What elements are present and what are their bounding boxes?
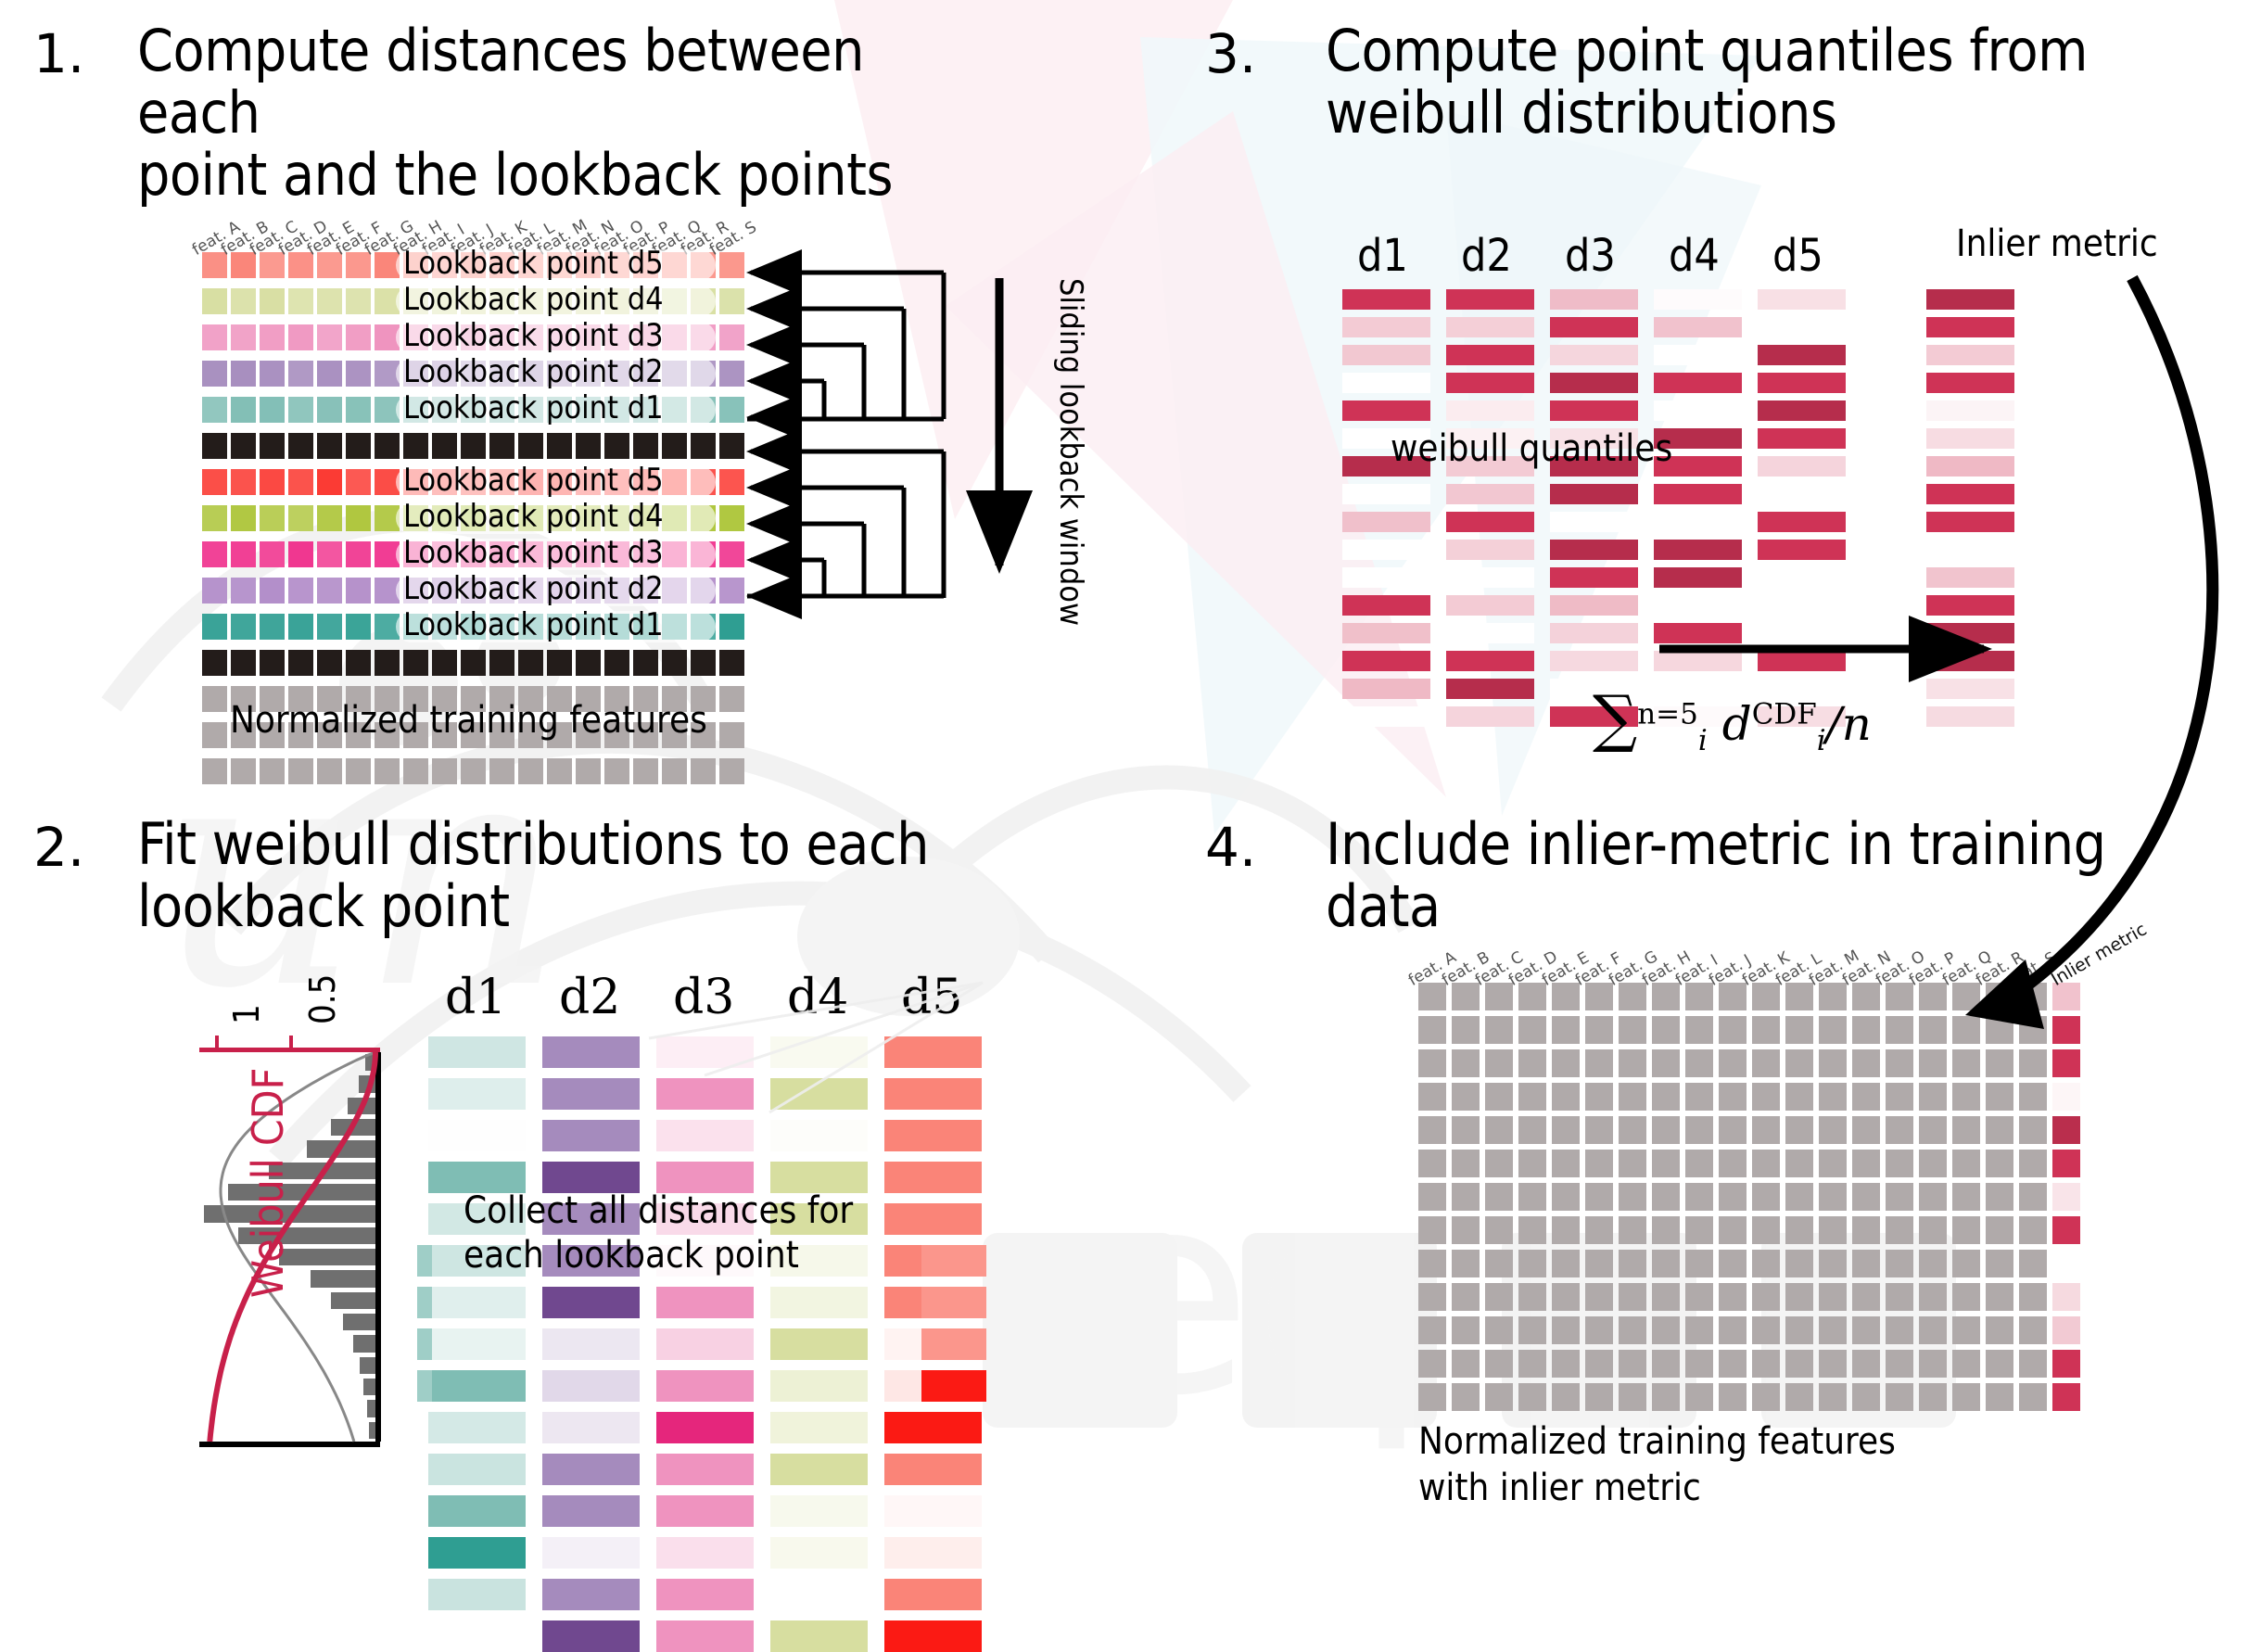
- formula-tail: /n: [1826, 697, 1872, 751]
- panel4-cell: [1552, 1283, 1580, 1311]
- panel4-cell: [1485, 1150, 1513, 1177]
- panel1-cell: [719, 650, 744, 676]
- panel1-cell: [719, 469, 744, 495]
- panel4-cell: [2019, 1216, 2047, 1244]
- panel4-cell: [1485, 1083, 1513, 1111]
- panel1-cell: [202, 433, 227, 459]
- panel4-cell: [1952, 1316, 1980, 1344]
- panel1-cell: [461, 650, 486, 676]
- panel2-cell: [770, 1454, 868, 1485]
- panel2-cell: [656, 1078, 754, 1110]
- panel2-extra-cell: [417, 1287, 432, 1318]
- panel3-column-label-d3: d3: [1565, 230, 1616, 282]
- panel4-cell: [1485, 1116, 1513, 1144]
- panel4-cell: [1719, 1350, 1747, 1378]
- panel1-cell: [231, 578, 256, 604]
- panel4-cell: [1719, 1150, 1747, 1177]
- panel4-cell: [1685, 1150, 1713, 1177]
- panel1-cell: [662, 758, 687, 784]
- panel4-cell: [1752, 1316, 1780, 1344]
- panel1-cell: [202, 252, 227, 278]
- panel3-inlier-cell: [1926, 651, 2014, 671]
- panel1-cell: [346, 361, 371, 387]
- panel1-cell: [317, 578, 342, 604]
- panel1-cell: [202, 288, 227, 314]
- panel1-cell: [202, 686, 227, 712]
- panel3-cell: [1446, 679, 1534, 699]
- panel1-cell: [691, 433, 716, 459]
- panel1-cell: [604, 650, 629, 676]
- step-3-title: Compute point quantiles from weibull dis…: [1326, 20, 2234, 145]
- panel4-cell: [1585, 1283, 1613, 1311]
- panel1-cell: [346, 397, 371, 423]
- panel4-cell: [1552, 1150, 1580, 1177]
- panel2-cell: [542, 1495, 640, 1527]
- panel1-cell: [260, 361, 285, 387]
- panel1-cell: [604, 758, 629, 784]
- panel1-cell: [403, 650, 428, 676]
- panel1-cell: [432, 758, 457, 784]
- panel4-cell: [1719, 1250, 1747, 1277]
- step-1-number: 1.: [33, 22, 84, 85]
- sigma-lower: i: [1698, 724, 1708, 757]
- panel4-cell: [1886, 1383, 1913, 1411]
- panel4-cell: [1518, 1049, 1546, 1077]
- panel2-cell: [428, 1287, 526, 1318]
- panel2-cell: [542, 1328, 640, 1360]
- panel3-inlier-cell: [1926, 345, 2014, 365]
- panel4-cell: [1785, 1216, 1813, 1244]
- panel4-cell: [1652, 1083, 1680, 1111]
- diagram-canvas: req un 1. Compute distances between each…: [0, 0, 2261, 1572]
- panel4-cell: [1485, 983, 1513, 1010]
- panel3-cell: [1342, 345, 1430, 365]
- panel4-cell: [1619, 1316, 1646, 1344]
- panel1-cell: [317, 541, 342, 567]
- cdf-curve: [190, 1052, 403, 1455]
- panel4-cell: [1952, 983, 1980, 1010]
- panel2-cell: [542, 1579, 640, 1610]
- panel4-cell: [2019, 1083, 2047, 1111]
- panel4-cell: [1552, 1183, 1580, 1211]
- panel2-column-label-d1: d1: [445, 970, 506, 1025]
- panel4-cell: [1886, 1049, 1913, 1077]
- panel4-cell: [1919, 1083, 1947, 1111]
- panel3-cell: [1758, 512, 1846, 532]
- panel3-cell: [1550, 484, 1638, 504]
- panel1-cell: [346, 541, 371, 567]
- panel3-cell: [1758, 484, 1846, 504]
- panel4-cell: [1652, 1049, 1680, 1077]
- panel4-cell: [1886, 1283, 1913, 1311]
- panel4-cell: [1418, 1316, 1446, 1344]
- step-3-number: 3.: [1205, 22, 1256, 85]
- panel1-cell: [346, 578, 371, 604]
- panel3-cell: [1342, 289, 1430, 310]
- panel4-cell: [1819, 1150, 1847, 1177]
- panel2-overlay-text: Collect all distances for each lookback …: [464, 1188, 853, 1277]
- panel1-cell: [317, 758, 342, 784]
- panel3-cell: [1550, 540, 1638, 560]
- panel4-cell: [1652, 1016, 1680, 1044]
- panel1-cell: [489, 758, 514, 784]
- panel3-cell: [1342, 706, 1430, 727]
- panel3-inlier-cell: [1926, 484, 2014, 504]
- panel2-column-label-d4: d4: [787, 970, 848, 1025]
- panel1-cell: [288, 650, 313, 676]
- panel2-cell: [656, 1287, 754, 1318]
- panel3-column-label-d5: d5: [1772, 230, 1823, 282]
- panel4-cell: [1552, 1250, 1580, 1277]
- panel1-cell: [317, 252, 342, 278]
- sigma-symbol: ∑: [1593, 681, 1637, 755]
- panel2-cell: [542, 1370, 640, 1402]
- panel4-cell: [1819, 1250, 1847, 1277]
- panel4-cell: [1552, 1116, 1580, 1144]
- panel1-cell: [202, 614, 227, 640]
- panel1-cell: [375, 650, 400, 676]
- panel2-cell: [542, 1120, 640, 1151]
- panel3-inlier-cell: [1926, 456, 2014, 477]
- panel4-cell: [1585, 1383, 1613, 1411]
- panel4-cell: [1819, 1116, 1847, 1144]
- panel4-cell: [1652, 1316, 1680, 1344]
- panel4-cell: [1719, 1216, 1747, 1244]
- panel4-cell: [1685, 1116, 1713, 1144]
- panel1-cell: [461, 433, 486, 459]
- panel4-cell: [1652, 1150, 1680, 1177]
- panel3-cell: [1654, 400, 1742, 421]
- panel4-cell: [1685, 1316, 1713, 1344]
- panel4-cell: [1886, 1083, 1913, 1111]
- panel2-column-label-d3: d3: [673, 970, 734, 1025]
- panel1-cell: [231, 650, 256, 676]
- panel3-cell: [1654, 289, 1742, 310]
- panel4-cell: [1552, 1350, 1580, 1378]
- panel2-cell: [656, 1537, 754, 1569]
- panel2-cell: [428, 1412, 526, 1443]
- panel4-cell: [1585, 1316, 1613, 1344]
- panel4-cell: [1418, 1183, 1446, 1211]
- panel1-cell: [260, 650, 285, 676]
- panel1-cell: [403, 758, 428, 784]
- panel4-cell: [1452, 983, 1480, 1010]
- panel2-cell: [428, 1078, 526, 1110]
- panel4-cell: [1418, 1283, 1446, 1311]
- panel1-cell: [719, 361, 744, 387]
- panel1-cell: [202, 324, 227, 350]
- panel1-cell: [346, 469, 371, 495]
- weibull-cdf-axis-title: Weibull CDF: [243, 1068, 293, 1298]
- panel2-cell: [428, 1495, 526, 1527]
- panel4-cell: [1552, 1316, 1580, 1344]
- panel2-cell: [884, 1454, 982, 1485]
- panel1-cell: [202, 650, 227, 676]
- panel3-cell: [1758, 289, 1846, 310]
- panel3-cell: [1446, 567, 1534, 588]
- panel1-cell: [317, 324, 342, 350]
- panel1-row-label: Lookback point d4: [403, 500, 664, 533]
- panel4-cell: [1619, 1150, 1646, 1177]
- panel3-cell: [1446, 706, 1534, 727]
- panel3-cell: [1758, 651, 1846, 671]
- panel4-cell: [1619, 1250, 1646, 1277]
- panel2-cell: [770, 1412, 868, 1443]
- panel4-cell: [1518, 1316, 1546, 1344]
- panel4-cell: [1619, 1049, 1646, 1077]
- panel4-cell: [1518, 1283, 1546, 1311]
- panel2-extra-cell: [417, 1328, 432, 1360]
- panel4-cell: [1418, 1083, 1446, 1111]
- panel4-cell: [1919, 1316, 1947, 1344]
- panel1-cell: [576, 650, 601, 676]
- panel1-cell: [317, 433, 342, 459]
- panel1-cell: [317, 505, 342, 531]
- panel2-cell: [428, 1537, 526, 1569]
- panel4-cell: [1652, 1350, 1680, 1378]
- panel1-cell: [719, 758, 744, 784]
- panel2-cell: [884, 1620, 982, 1652]
- cdf-tick-05: [289, 1036, 293, 1050]
- panel1-cell: [719, 288, 744, 314]
- panel2-cell: [542, 1537, 640, 1569]
- panel4-cell: [1752, 1049, 1780, 1077]
- panel1-cell: [719, 614, 744, 640]
- panel4-inlier-cell: [2052, 1016, 2080, 1044]
- panel1-cell: [547, 758, 572, 784]
- panel4-cell: [1485, 1216, 1513, 1244]
- panel1-caption: Normalized training features: [230, 697, 707, 743]
- panel4-cell: [1852, 1383, 1880, 1411]
- panel2-cell: [770, 1078, 868, 1110]
- panel4-cell: [1952, 1150, 1980, 1177]
- panel1-cell: [691, 650, 716, 676]
- panel4-cell: [1852, 1250, 1880, 1277]
- formula-body-sup: CDF: [1752, 697, 1817, 731]
- panel1-cell: [202, 758, 227, 784]
- panel3-cell: [1550, 567, 1638, 588]
- panel3-inlier-cell: [1926, 428, 2014, 449]
- panel4-cell: [1685, 1016, 1713, 1044]
- panel1-cell: [489, 650, 514, 676]
- panel4-inlier-cell: [2052, 1216, 2080, 1244]
- panel4-cell: [1452, 1383, 1480, 1411]
- panel4-cell: [2019, 1283, 2047, 1311]
- panel3-column-label-d1: d1: [1357, 230, 1408, 282]
- panel3-inlier-cell: [1926, 679, 2014, 699]
- panel1-cell: [317, 650, 342, 676]
- panel4-cell: [1552, 1383, 1580, 1411]
- panel1-cell: [260, 505, 285, 531]
- panel1-cell: [346, 650, 371, 676]
- panel3-cell: [1342, 317, 1430, 337]
- panel4-cell: [1485, 1049, 1513, 1077]
- panel1-cell: [633, 758, 658, 784]
- panel4-cell: [1819, 1183, 1847, 1211]
- panel1-cell: [432, 433, 457, 459]
- panel4-cell: [1785, 1150, 1813, 1177]
- panel3-inlier-cell: [1926, 400, 2014, 421]
- panel2-cell: [770, 1537, 868, 1569]
- panel1-cell: [662, 433, 687, 459]
- panel4-cell: [1418, 983, 1446, 1010]
- panel4-cell: [1418, 1383, 1446, 1411]
- panel4-cell: [1785, 1350, 1813, 1378]
- panel1-cell: [202, 578, 227, 604]
- panel4-cell: [1652, 1283, 1680, 1311]
- panel4-cell: [1852, 1083, 1880, 1111]
- step-4-title: Include inlier-metric in training data: [1326, 814, 2234, 938]
- panel3-cell: [1446, 373, 1534, 393]
- panel4-cell: [1585, 1116, 1613, 1144]
- inlier-metric-formula: ∑n=5i dCDFi/n: [1593, 681, 1872, 757]
- panel1-cell: [231, 758, 256, 784]
- panel3-cell: [1758, 623, 1846, 643]
- panel1-cell: [346, 252, 371, 278]
- panel4-cell: [2019, 1383, 2047, 1411]
- panel1-cell: [260, 614, 285, 640]
- panel3-cell: [1654, 345, 1742, 365]
- panel4-inlier-cell: [2052, 1183, 2080, 1211]
- panel4-cell: [1685, 1049, 1713, 1077]
- panel4-cell: [1785, 1016, 1813, 1044]
- panel1-row-label: Lookback point d3: [403, 536, 664, 569]
- panel3-cell: [1342, 484, 1430, 504]
- panel4-cell: [1852, 1049, 1880, 1077]
- panel2-cell: [542, 1412, 640, 1443]
- panel4-cell: [1785, 1383, 1813, 1411]
- panel2-cell: [656, 1620, 754, 1652]
- step-1-title: Compute distances between each point and…: [137, 20, 972, 207]
- panel3-inlier-cell: [1926, 540, 2014, 560]
- panel4-cell: [1652, 1116, 1680, 1144]
- panel4-cell: [1518, 1083, 1546, 1111]
- panel4-cell: [1819, 1216, 1847, 1244]
- panel3-cell: [1446, 484, 1534, 504]
- panel3-inlier-cell: [1926, 567, 2014, 588]
- panel4-cell: [1719, 1049, 1747, 1077]
- panel1-cell: [260, 578, 285, 604]
- panel3-cell: [1654, 317, 1742, 337]
- panel2-cell: [770, 1620, 868, 1652]
- panel4-cell: [1619, 1016, 1646, 1044]
- cdf-tick-1: [215, 1036, 219, 1050]
- panel4-cell: [1619, 983, 1646, 1010]
- step-4-number: 4.: [1205, 816, 1256, 879]
- panel4-cell: [1886, 1150, 1913, 1177]
- panel3-cell: [1550, 373, 1638, 393]
- panel1-cell: [518, 650, 543, 676]
- panel4-cell: [1886, 1350, 1913, 1378]
- panel1-cell: [202, 541, 227, 567]
- panel4-cell: [1886, 1316, 1913, 1344]
- panel4-cell: [1952, 1083, 1980, 1111]
- panel4-cell: [1719, 1183, 1747, 1211]
- panel2-cell: [656, 1495, 754, 1527]
- panel4-cell: [1685, 1083, 1713, 1111]
- panel4-cell: [1785, 1049, 1813, 1077]
- panel4-cell: [1752, 1216, 1780, 1244]
- sliding-window-label: Sliding lookback window: [1053, 278, 1086, 626]
- panel4-cell: [1585, 1183, 1613, 1211]
- panel4-cell: [1485, 1183, 1513, 1211]
- panel4-cell: [1719, 1283, 1747, 1311]
- panel1-cell: [346, 614, 371, 640]
- panel4-cell: [1919, 1383, 1947, 1411]
- panel4-cell: [1819, 1083, 1847, 1111]
- panel4-inlier-cell: [2052, 1283, 2080, 1311]
- panel1-row-label: Lookback point d4: [403, 283, 664, 316]
- panel4-inlier-cell: [2052, 1150, 2080, 1177]
- panel4-cell: [1752, 983, 1780, 1010]
- panel2-column-label-d5: d5: [901, 970, 962, 1025]
- panel4-cell: [1652, 1183, 1680, 1211]
- panel4-cell: [1452, 1150, 1480, 1177]
- panel1-cell: [346, 433, 371, 459]
- sigma-upper: n=5: [1637, 697, 1698, 731]
- panel4-cell: [1619, 1283, 1646, 1311]
- panel1-cell: [547, 650, 572, 676]
- svg-text:req: req: [973, 1133, 1429, 1456]
- panel4-cell: [1986, 1383, 2013, 1411]
- panel4-cell: [1418, 1016, 1446, 1044]
- panel1-cell: [662, 650, 687, 676]
- panel4-cell: [1986, 1150, 2013, 1177]
- panel1-cell: [719, 686, 744, 712]
- panel4-cell: [1952, 1216, 1980, 1244]
- panel1-row-label: Lookback point d5: [403, 464, 664, 497]
- panel4-cell: [1986, 1283, 2013, 1311]
- panel4-cell: [1585, 1083, 1613, 1111]
- panel4-cell: [1518, 1383, 1546, 1411]
- panel2-extra-cell: [921, 1328, 986, 1360]
- panel2-cell: [656, 1036, 754, 1068]
- panel4-cell: [1585, 1016, 1613, 1044]
- panel4-cell: [1719, 1383, 1747, 1411]
- panel4-cell: [1452, 1049, 1480, 1077]
- panel4-cell: [1452, 1283, 1480, 1311]
- panel1-cell: [260, 433, 285, 459]
- panel4-cell: [1452, 1116, 1480, 1144]
- panel4-cell: [1785, 1116, 1813, 1144]
- panel4-cell: [1518, 1250, 1546, 1277]
- panel4-cell: [1452, 1316, 1480, 1344]
- panel1-row-label: Lookback point d1: [403, 391, 664, 425]
- panel1-cell: [231, 505, 256, 531]
- panel3-inlier-cell: [1926, 317, 2014, 337]
- panel1-cell: [288, 324, 313, 350]
- panel1-cell: [260, 469, 285, 495]
- panel1-cell: [231, 541, 256, 567]
- panel4-cell: [1452, 1350, 1480, 1378]
- panel3-cell: [1342, 512, 1430, 532]
- panel3-cell: [1446, 345, 1534, 365]
- panel4-cell: [1518, 1216, 1546, 1244]
- panel3-cell: [1654, 623, 1742, 643]
- panel1-cell: [317, 614, 342, 640]
- panel4-cell: [1485, 1316, 1513, 1344]
- panel4-cell: [1919, 1150, 1947, 1177]
- panel4-cell: [1986, 1116, 2013, 1144]
- panel2-extra-cell: [921, 1245, 986, 1277]
- panel2-cell: [884, 1412, 982, 1443]
- panel4-cell: [1452, 1016, 1480, 1044]
- panel4-inlier-cell: [2052, 1049, 2080, 1077]
- panel3-cell: [1758, 400, 1846, 421]
- panel4-cell: [1986, 1016, 2013, 1044]
- panel4-cell: [1986, 1250, 2013, 1277]
- panel4-cell: [1552, 1216, 1580, 1244]
